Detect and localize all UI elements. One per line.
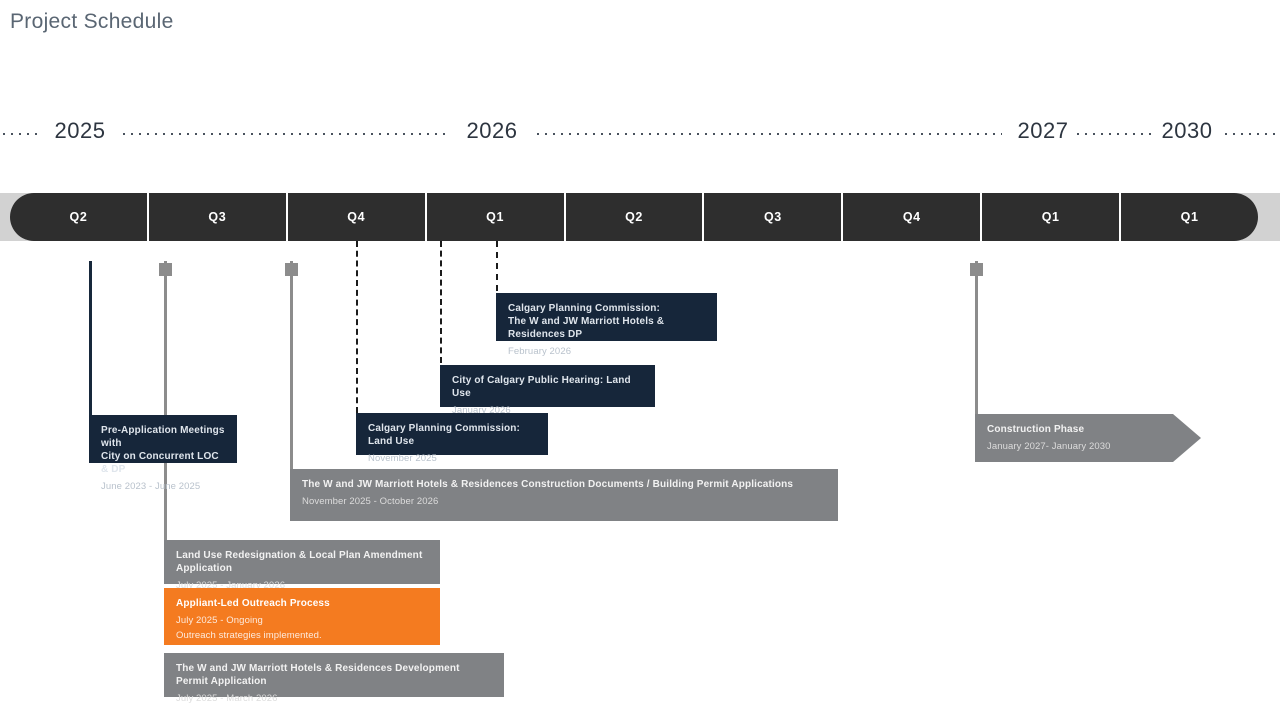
year-label-2030: 2030: [1147, 118, 1227, 144]
year-axis-dotted-segment: [0, 133, 42, 135]
bar-title: Land Use Redesignation & Local Plan Amen…: [176, 549, 428, 575]
bar-title: Appliant-Led Outreach Process: [176, 597, 428, 610]
quarter-cell-q1-2030[interactable]: Q1: [1121, 193, 1258, 241]
year-label-2026: 2026: [452, 118, 532, 144]
connector-construction-phase: [975, 261, 978, 416]
task-pre-application-meetings[interactable]: Pre-Application Meetings withCity on Con…: [89, 415, 237, 463]
bar-title: Calgary Planning Commission: Land Use: [368, 422, 536, 448]
timeline-body: Calgary Planning Commission:The W and JW…: [0, 241, 1280, 711]
quarter-cell-q1-2026[interactable]: Q1: [427, 193, 566, 241]
bar-date-range: July 2025 - March 2026: [176, 692, 492, 705]
task-land-use-redesignation[interactable]: Land Use Redesignation & Local Plan Amen…: [164, 540, 440, 584]
year-label-2025: 2025: [40, 118, 120, 144]
dashline-cpc-land-use: [356, 241, 358, 413]
quarter-cell-q4-2025[interactable]: Q4: [288, 193, 427, 241]
quarter-label: Q2: [70, 210, 88, 224]
bar-date-range: January 2027- January 2030: [987, 440, 1189, 453]
milestone-cpc-marriott-dp[interactable]: Calgary Planning Commission:The W and JW…: [496, 293, 717, 341]
bar-title-line: Pre-Application Meetings with: [101, 424, 225, 450]
quarter-cell-q2-2025[interactable]: Q2: [10, 193, 149, 241]
task-development-permit-application[interactable]: The W and JW Marriott Hotels & Residence…: [164, 653, 504, 697]
bar-title: Calgary Planning Commission:The W and JW…: [508, 302, 705, 341]
bar-title-line: Land Use Redesignation & Local Plan Amen…: [176, 549, 428, 575]
quarter-label: Q3: [208, 210, 226, 224]
task-construction-phase[interactable]: Construction PhaseJanuary 2027- January …: [975, 414, 1201, 462]
quarter-cell-q1-2027[interactable]: Q1: [982, 193, 1121, 241]
bar-title-line: Appliant-Led Outreach Process: [176, 597, 428, 610]
milestone-public-hearing-land-use[interactable]: City of Calgary Public Hearing: Land Use…: [440, 365, 655, 407]
bar-date-range: November 2025 - October 2026: [302, 495, 826, 508]
year-axis: 2025202620272030: [0, 118, 1280, 150]
quarter-label: Q1: [486, 210, 504, 224]
bar-title-line: City on Concurrent LOC & DP: [101, 450, 225, 476]
connector-land-use-marker-icon: [159, 263, 172, 276]
quarter-label: Q4: [903, 210, 921, 224]
bar-title-line: The W and JW Marriott Hotels & Residence…: [302, 478, 826, 491]
bar-title: The W and JW Marriott Hotels & Residence…: [176, 662, 492, 688]
bar-date-range: June 2023 - June 2025: [101, 480, 225, 493]
bar-title-line: Calgary Planning Commission: Land Use: [368, 422, 536, 448]
quarter-label: Q1: [1042, 210, 1060, 224]
quarter-cell-q2-2026[interactable]: Q2: [566, 193, 705, 241]
bar-date-range: November 2025: [368, 452, 536, 465]
bar-note: Outreach strategies implemented.: [176, 629, 428, 642]
year-axis-dotted-segment: [534, 133, 1002, 135]
year-axis-dotted-segment: [1074, 133, 1152, 135]
bar-title: Pre-Application Meetings withCity on Con…: [101, 424, 225, 476]
bar-title: City of Calgary Public Hearing: Land Use: [452, 374, 643, 400]
quarter-label: Q2: [625, 210, 643, 224]
quarter-label: Q1: [1181, 210, 1199, 224]
bar-title: The W and JW Marriott Hotels & Residence…: [302, 478, 826, 491]
connector-construction-docs-marker-icon: [285, 263, 298, 276]
milestone-cpc-land-use[interactable]: Calgary Planning Commission: Land UseNov…: [356, 413, 548, 455]
quarter-bar: Q2Q3Q4Q1Q2Q3Q4Q1Q1: [10, 193, 1258, 241]
dashline-cpc-dp: [496, 241, 498, 291]
bar-title-line: City of Calgary Public Hearing: Land Use: [452, 374, 643, 400]
year-axis-dotted-segment: [120, 133, 450, 135]
quarter-cell-q4-2026[interactable]: Q4: [843, 193, 982, 241]
task-construction-documents[interactable]: The W and JW Marriott Hotels & Residence…: [290, 469, 838, 521]
bar-title-line: The W and JW Marriott Hotels & Residence…: [508, 315, 705, 341]
connector-construction-docs: [290, 261, 293, 483]
connector-construction-phase-marker-icon: [970, 263, 983, 276]
year-axis-dotted-segment: [1222, 133, 1280, 135]
quarter-cell-q3-2026[interactable]: Q3: [704, 193, 843, 241]
task-applicant-led-outreach[interactable]: Appliant-Led Outreach ProcessJuly 2025 -…: [164, 588, 440, 645]
year-label-2027: 2027: [1003, 118, 1083, 144]
dashline-public-hearing: [440, 241, 442, 363]
bar-title-line: Calgary Planning Commission:: [508, 302, 705, 315]
quarter-cell-q3-2025[interactable]: Q3: [149, 193, 288, 241]
quarter-label: Q4: [347, 210, 365, 224]
quarter-label: Q3: [764, 210, 782, 224]
bar-date-range: July 2025 - Ongoing: [176, 614, 428, 627]
page-title: Project Schedule: [10, 10, 174, 34]
bar-title: Construction Phase: [987, 423, 1189, 436]
bar-title-line: Construction Phase: [987, 423, 1189, 436]
bar-title-line: The W and JW Marriott Hotels & Residence…: [176, 662, 492, 688]
quarter-bar-strip: Q2Q3Q4Q1Q2Q3Q4Q1Q1: [0, 193, 1280, 241]
bar-date-range: February 2026: [508, 345, 705, 358]
